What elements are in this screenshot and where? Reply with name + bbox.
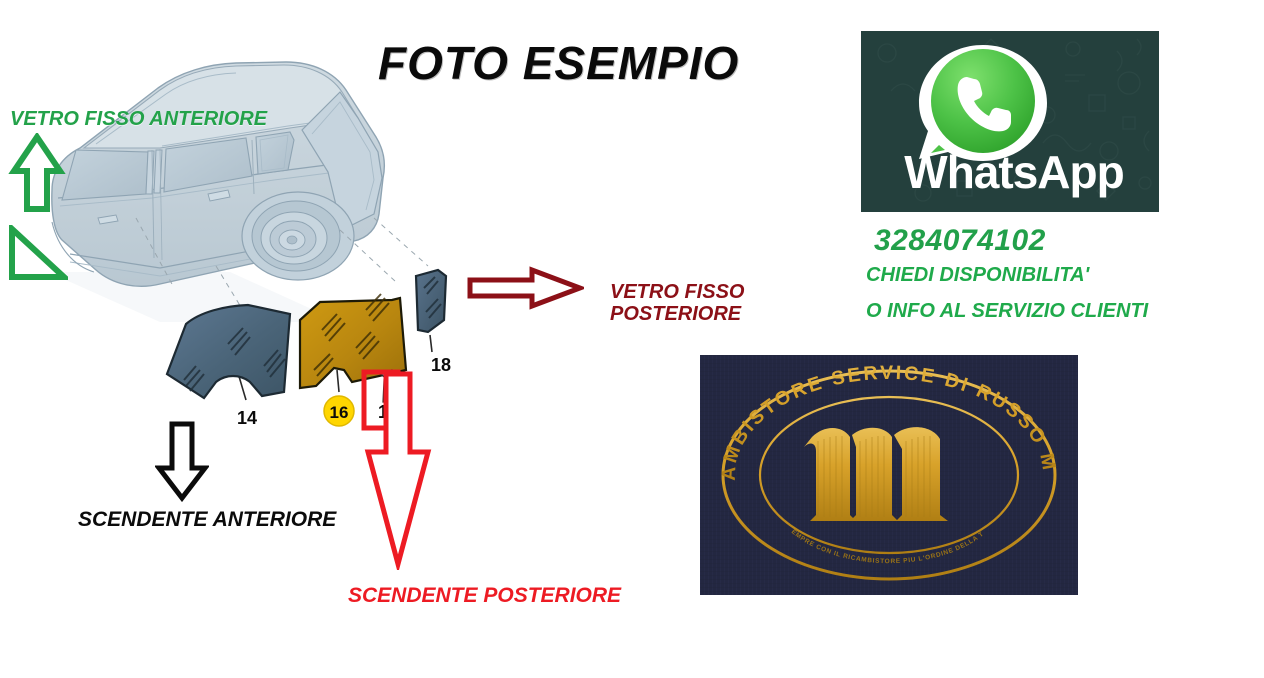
contact-line-2: O INFO AL SERVIZIO CLIENTI [866,300,1148,323]
triangle-green-icon [6,225,68,288]
whatsapp-icon [913,41,1053,161]
whatsapp-wordmark: WhatsApp [889,149,1139,195]
poster-canvas: 16 14 17 18 FOTO ESEMPIO [0,0,1264,678]
page-title: FOTO ESEMPIO [378,36,798,90]
phone-number[interactable]: 3284074102 [874,224,1046,258]
label-scendente-anteriore: SCENDENTE ANTERIORE [78,508,336,532]
contact-line-1: CHIEDI DISPONIBILITA' [866,264,1089,287]
part-18-shape [416,270,446,332]
label-scendente-posteriore: SCENDENTE POSTERIORE [348,584,621,608]
label-vetro-fisso-anteriore: VETRO FISSO ANTERIORE [10,108,267,130]
part-16-number: 16 [330,403,349,422]
arrow-right-darkred-icon [466,266,584,315]
shop-logo-monogram [804,427,948,521]
label-vetro-fisso-posteriore: VETRO FISSO POSTERIORE [610,281,744,326]
whatsapp-banner: WhatsApp [861,31,1159,212]
arrow-down-red-icon [362,370,434,575]
arrow-down-black-icon [155,420,209,507]
label-vfp-line2: POSTERIORE [610,303,744,325]
label-vfp-line1: VETRO FISSO [610,281,744,303]
shop-logo: MRICAMBISTORE SERVICE DI RUSSO MARCO ESS… [700,355,1078,595]
part-14-shape [167,305,290,398]
arrow-up-green-icon [8,133,66,218]
part-14-number: 14 [237,408,257,428]
